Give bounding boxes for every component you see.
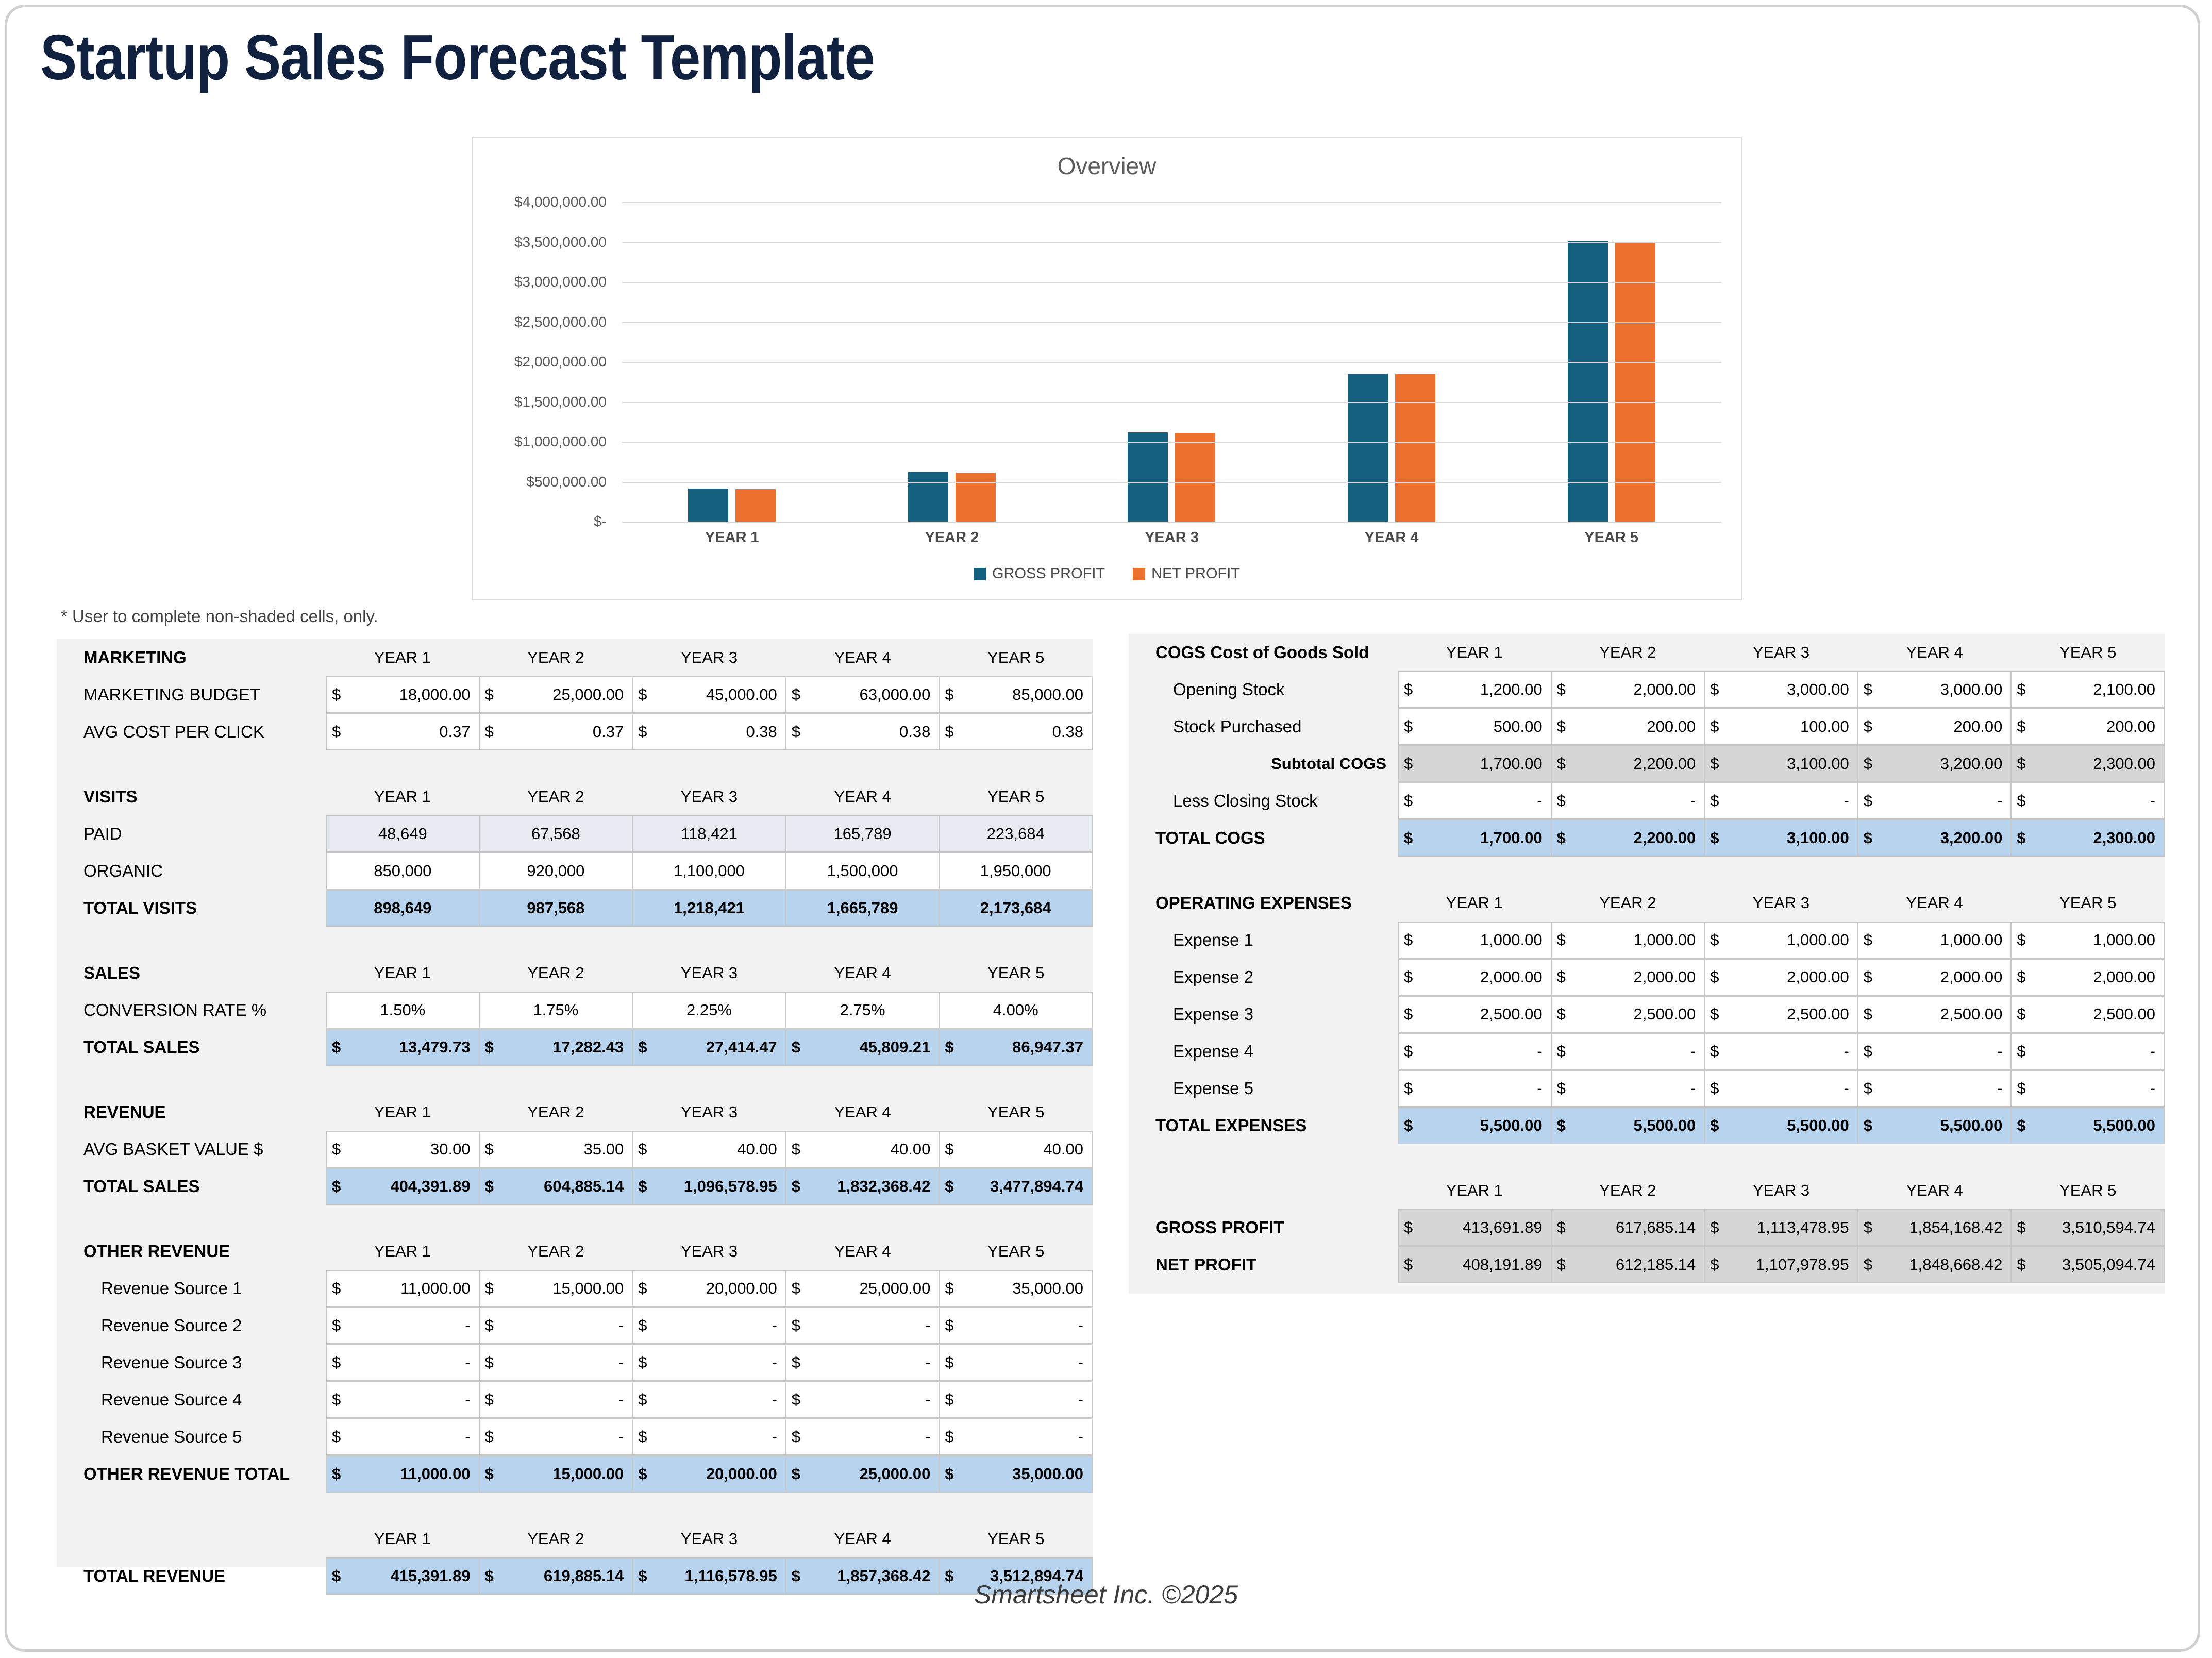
value-cell[interactable]: $- (786, 1344, 940, 1381)
year-column-header: YEAR 1 (326, 954, 479, 992)
table-row: AVG BASKET VALUE $$30.00$35.00$40.00$40.… (57, 1131, 1093, 1168)
value-cell[interactable]: $35,000.00 (939, 1270, 1093, 1307)
value-cell[interactable]: $- (1858, 782, 2012, 819)
value-cell[interactable]: $- (1398, 782, 1551, 819)
currency-symbol: $ (945, 1316, 953, 1335)
value-cell[interactable]: $- (1551, 1033, 1705, 1070)
currency-symbol: $ (332, 685, 341, 704)
value-cell[interactable]: $45,000.00 (632, 676, 786, 713)
value-text: 3,200.00 (1858, 829, 2011, 847)
value-text: 5,500.00 (1858, 1116, 2011, 1135)
value-cell[interactable]: $1,848,668.42 (1858, 1246, 2012, 1283)
value-cell[interactable]: 2.25% (632, 992, 786, 1029)
currency-symbol: $ (1557, 717, 1566, 736)
value-cell[interactable]: 898,649 (326, 890, 479, 927)
value-text: 25,000.00 (480, 685, 632, 704)
year-column-header: YEAR 1 (1398, 884, 1551, 922)
year-column-header: YEAR 5 (939, 1094, 1093, 1131)
value-cell[interactable]: $17,282.43 (479, 1029, 633, 1066)
currency-symbol: $ (1404, 1005, 1413, 1024)
value-cell[interactable]: $5,500.00 (1398, 1107, 1551, 1144)
value-cell[interactable]: 1,100,000 (632, 852, 786, 890)
value-cell[interactable]: $200.00 (1858, 708, 2012, 745)
value-cell[interactable]: $35.00 (479, 1131, 633, 1168)
value-cell[interactable]: $13,479.73 (326, 1029, 479, 1066)
value-cell[interactable]: 1,665,789 (786, 890, 940, 927)
value-cell[interactable]: $40.00 (939, 1131, 1093, 1168)
value-cell[interactable]: $20,000.00 (632, 1270, 786, 1307)
value-cell[interactable]: $- (326, 1418, 479, 1455)
value-cell[interactable]: $408,191.89 (1398, 1246, 1551, 1283)
table-row: Less Closing Stock$-$-$-$-$- (1129, 782, 2165, 819)
value-cell[interactable]: $11,000.00 (326, 1270, 479, 1307)
value-text: - (1552, 1042, 1704, 1061)
currency-symbol: $ (1404, 717, 1413, 736)
currency-symbol: $ (2017, 1005, 2025, 1024)
value-cell[interactable]: $- (1551, 782, 1705, 819)
value-cell[interactable]: $- (479, 1418, 633, 1455)
value-cell[interactable]: $0.37 (326, 713, 479, 750)
currency-symbol: $ (2017, 829, 2025, 847)
value-text: 20,000.00 (633, 1279, 785, 1298)
currency-symbol: $ (945, 1428, 953, 1446)
value-cell[interactable]: 48,649 (326, 815, 479, 852)
currency-symbol: $ (1557, 1255, 1566, 1274)
currency-symbol: $ (332, 1353, 341, 1372)
value-cell[interactable]: 2.75% (786, 992, 940, 1029)
value-cell[interactable]: $35,000.00 (939, 1455, 1093, 1493)
value-cell[interactable]: $- (2011, 1070, 2165, 1107)
chart-x-tick: YEAR 2 (842, 529, 1062, 546)
section-header-row: OPERATING EXPENSESYEAR 1YEAR 2YEAR 3YEAR… (1129, 884, 2165, 922)
value-cell[interactable]: $- (939, 1344, 1093, 1381)
value-cell[interactable]: $25,000.00 (786, 1455, 940, 1493)
value-cell[interactable]: $- (479, 1381, 633, 1418)
value-cell[interactable]: $3,477,894.74 (939, 1168, 1093, 1205)
row-label: Expense 2 (1129, 959, 1398, 996)
value-text: - (327, 1316, 479, 1335)
value-cell[interactable]: $5,500.00 (1858, 1107, 2012, 1144)
value-cell[interactable]: $2,300.00 (2011, 745, 2165, 782)
value-cell[interactable]: $2,000.00 (2011, 959, 2165, 996)
value-cell[interactable]: $1,000.00 (1551, 922, 1705, 959)
value-cell[interactable]: $2,500.00 (1398, 996, 1551, 1033)
value-cell[interactable]: $0.37 (479, 713, 633, 750)
table-row: Stock Purchased$500.00$200.00$100.00$200… (1129, 708, 2165, 745)
row-label: TOTAL VISITS (57, 890, 326, 927)
currency-symbol: $ (1710, 931, 1719, 949)
value-cell[interactable]: $2,200.00 (1551, 819, 1705, 857)
value-text: 1.75% (480, 1001, 632, 1019)
value-text: - (2012, 792, 2164, 810)
value-cell[interactable]: 850,000 (326, 852, 479, 890)
value-text: - (786, 1316, 939, 1335)
value-cell[interactable]: $5,500.00 (1551, 1107, 1705, 1144)
value-cell[interactable]: $0.38 (786, 713, 940, 750)
currency-symbol: $ (485, 723, 494, 741)
value-text: 3,100.00 (1705, 755, 1857, 773)
value-cell[interactable]: $2,000.00 (1398, 959, 1551, 996)
row-label: GROSS PROFIT (1129, 1209, 1398, 1246)
table-row: TOTAL SALES$404,391.89$604,885.14$1,096,… (57, 1168, 1093, 1205)
chart-plot-area (622, 202, 1721, 522)
currency-symbol: $ (332, 1038, 341, 1057)
value-cell[interactable]: $3,505,094.74 (2011, 1246, 2165, 1283)
value-cell[interactable]: $1,113,478.95 (1704, 1209, 1858, 1246)
value-cell[interactable]: $1,000.00 (1398, 922, 1551, 959)
value-cell[interactable]: $5,500.00 (2011, 1107, 2165, 1144)
value-text: 45,000.00 (633, 685, 785, 704)
chart-bar-gross-profit (688, 489, 728, 522)
value-cell[interactable]: $- (1858, 1070, 2012, 1107)
value-cell[interactable]: $604,885.14 (479, 1168, 633, 1205)
value-cell[interactable]: $404,391.89 (326, 1168, 479, 1205)
value-cell[interactable]: $0.38 (939, 713, 1093, 750)
row-spacer (57, 750, 1093, 778)
value-cell[interactable]: 1.50% (326, 992, 479, 1029)
row-spacer (1129, 1144, 2165, 1172)
value-text: 11,000.00 (327, 1465, 479, 1483)
right-panel: COGS Cost of Goods SoldYEAR 1YEAR 2YEAR … (1129, 634, 2165, 1294)
value-text: - (633, 1316, 785, 1335)
value-cell[interactable]: $5,500.00 (1704, 1107, 1858, 1144)
value-cell[interactable]: $- (786, 1307, 940, 1344)
currency-symbol: $ (1710, 680, 1719, 699)
value-cell[interactable]: $86,947.37 (939, 1029, 1093, 1066)
value-cell[interactable]: $- (939, 1418, 1093, 1455)
value-cell[interactable]: 118,421 (632, 815, 786, 852)
currency-symbol: $ (638, 1177, 647, 1196)
value-cell[interactable]: 1,950,000 (939, 852, 1093, 890)
value-cell[interactable]: $2,500.00 (1858, 996, 2012, 1033)
chart-gridline (622, 402, 1721, 403)
value-cell[interactable]: $- (632, 1381, 786, 1418)
value-cell[interactable]: $- (1551, 1070, 1705, 1107)
value-text: 2,000.00 (2012, 968, 2164, 986)
currency-symbol: $ (485, 685, 494, 704)
value-cell[interactable]: $- (1858, 1033, 2012, 1070)
value-cell[interactable]: $40.00 (786, 1131, 940, 1168)
value-cell[interactable]: 223,684 (939, 815, 1093, 852)
value-text: 35,000.00 (940, 1465, 1092, 1483)
section-heading (57, 1520, 326, 1557)
value-cell[interactable]: $617,685.14 (1551, 1209, 1705, 1246)
row-label: Opening Stock (1129, 671, 1398, 708)
value-cell[interactable]: 4.00% (939, 992, 1093, 1029)
year-column-header: YEAR 5 (939, 1233, 1093, 1270)
value-cell[interactable]: $30.00 (326, 1131, 479, 1168)
value-cell[interactable]: $- (1398, 1033, 1551, 1070)
currency-symbol: $ (792, 1353, 800, 1372)
chart-y-axis-labels: $4,000,000.00$3,500,000.00$3,000,000.00$… (473, 202, 612, 522)
row-label: TOTAL SALES (57, 1029, 326, 1066)
value-cell[interactable]: $1,107,978.95 (1704, 1246, 1858, 1283)
year-column-header: YEAR 3 (632, 1520, 786, 1557)
value-cell[interactable]: $413,691.89 (1398, 1209, 1551, 1246)
value-cell[interactable]: $1,832,368.42 (786, 1168, 940, 1205)
value-text: 2,100.00 (2012, 680, 2164, 699)
currency-symbol: $ (1710, 1079, 1719, 1098)
value-cell[interactable]: 920,000 (479, 852, 633, 890)
chart-x-axis-labels: YEAR 1YEAR 2YEAR 3YEAR 4YEAR 5 (622, 529, 1721, 546)
value-text: 413,691.89 (1399, 1218, 1551, 1237)
value-cell[interactable]: $1,096,578.95 (632, 1168, 786, 1205)
value-text: 0.37 (480, 723, 632, 741)
value-cell[interactable]: $18,000.00 (326, 676, 479, 713)
legend-swatch-icon (1133, 568, 1145, 580)
value-cell[interactable]: $1,700.00 (1398, 745, 1551, 782)
year-column-header: YEAR 4 (786, 1094, 940, 1131)
year-column-header: YEAR 2 (1551, 884, 1705, 922)
currency-symbol: $ (638, 1353, 647, 1372)
currency-symbol: $ (1864, 1218, 1872, 1237)
value-cell[interactable]: $- (479, 1307, 633, 1344)
currency-symbol: $ (1710, 717, 1719, 736)
value-cell[interactable]: $3,200.00 (1858, 819, 2012, 857)
value-cell[interactable]: 987,568 (479, 890, 633, 927)
value-text: 1,200.00 (1399, 680, 1551, 699)
legend-item: NET PROFIT (1133, 565, 1240, 582)
currency-symbol: $ (1557, 968, 1566, 986)
value-cell[interactable]: $25,000.00 (479, 676, 633, 713)
currency-symbol: $ (485, 1353, 494, 1372)
currency-symbol: $ (1864, 680, 1872, 699)
currency-symbol: $ (2017, 1042, 2025, 1061)
value-cell[interactable]: $- (326, 1307, 479, 1344)
year-column-header: YEAR 5 (939, 1520, 1093, 1557)
currency-symbol: $ (1557, 792, 1566, 810)
value-cell[interactable]: $- (939, 1307, 1093, 1344)
value-cell[interactable]: $15,000.00 (479, 1455, 633, 1493)
chart-gridline (622, 442, 1721, 443)
value-cell[interactable]: $2,000.00 (1551, 671, 1705, 708)
value-cell[interactable]: $- (2011, 1033, 2165, 1070)
value-cell[interactable]: $2,500.00 (2011, 996, 2165, 1033)
value-cell[interactable]: $15,000.00 (479, 1270, 633, 1307)
value-cell[interactable]: $2,300.00 (2011, 819, 2165, 857)
section-header-row: SALESYEAR 1YEAR 2YEAR 3YEAR 4YEAR 5 (57, 954, 1093, 992)
value-cell[interactable]: $500.00 (1398, 708, 1551, 745)
value-cell[interactable]: 1.75% (479, 992, 633, 1029)
value-cell[interactable]: $1,200.00 (1398, 671, 1551, 708)
currency-symbol: $ (638, 1279, 647, 1298)
year-column-header: YEAR 5 (2011, 884, 2165, 922)
value-cell[interactable]: $1,700.00 (1398, 819, 1551, 857)
value-cell[interactable]: $- (1398, 1070, 1551, 1107)
value-cell[interactable]: $100.00 (1704, 708, 1858, 745)
value-cell[interactable]: $2,500.00 (1704, 996, 1858, 1033)
value-text: 4.00% (940, 1001, 1092, 1019)
value-text: - (480, 1353, 632, 1372)
section-heading: VISITS (57, 778, 326, 815)
chart-y-tick: $4,000,000.00 (514, 194, 607, 210)
value-cell[interactable]: 1,500,000 (786, 852, 940, 890)
year-column-header: YEAR 2 (479, 1094, 633, 1131)
currency-symbol: $ (792, 1316, 800, 1335)
currency-symbol: $ (638, 1428, 647, 1446)
value-cell[interactable]: $0.38 (632, 713, 786, 750)
value-cell[interactable]: $- (1704, 1033, 1858, 1070)
currency-symbol: $ (1404, 755, 1413, 773)
value-text: 898,649 (327, 899, 479, 917)
currency-symbol: $ (1864, 1042, 1872, 1061)
year-column-header: YEAR 5 (2011, 1172, 2165, 1209)
row-label: Expense 1 (1129, 922, 1398, 959)
chart-y-tick: $3,500,000.00 (514, 234, 607, 250)
value-cell[interactable]: $3,000.00 (1704, 671, 1858, 708)
currency-symbol: $ (1864, 1079, 1872, 1098)
value-cell[interactable]: $85,000.00 (939, 676, 1093, 713)
value-cell[interactable]: $1,854,168.42 (1858, 1209, 2012, 1246)
value-cell[interactable]: $- (2011, 782, 2165, 819)
value-text: 2,200.00 (1552, 829, 1704, 847)
value-text: 0.38 (786, 723, 939, 741)
currency-symbol: $ (1404, 792, 1413, 810)
value-cell[interactable]: $- (479, 1344, 633, 1381)
value-cell[interactable]: $- (326, 1381, 479, 1418)
shaded-cells-note: * User to complete non-shaded cells, onl… (61, 607, 378, 626)
value-text: - (633, 1391, 785, 1409)
year-column-header: YEAR 2 (1551, 1172, 1705, 1209)
value-cell[interactable]: $- (326, 1344, 479, 1381)
value-text: 5,500.00 (1399, 1116, 1551, 1135)
value-cell[interactable]: $- (786, 1418, 940, 1455)
chart-y-tick: $3,000,000.00 (514, 274, 607, 290)
value-text: - (327, 1391, 479, 1409)
currency-symbol: $ (1404, 931, 1413, 949)
value-cell[interactable]: 165,789 (786, 815, 940, 852)
table-row: NET PROFIT$408,191.89$612,185.14$1,107,9… (1129, 1246, 2165, 1283)
value-cell[interactable]: 1,218,421 (632, 890, 786, 927)
currency-symbol: $ (332, 1465, 341, 1483)
value-text: 2,500.00 (1552, 1005, 1704, 1024)
value-cell[interactable]: $- (632, 1307, 786, 1344)
value-cell[interactable]: $3,100.00 (1704, 745, 1858, 782)
currency-symbol: $ (1864, 968, 1872, 986)
currency-symbol: $ (638, 723, 647, 741)
value-cell[interactable]: $- (786, 1381, 940, 1418)
value-text: - (1552, 792, 1704, 810)
value-cell[interactable]: $- (939, 1381, 1093, 1418)
value-text: - (786, 1391, 939, 1409)
value-cell[interactable]: $1,000.00 (2011, 922, 2165, 959)
year-column-header: YEAR 1 (326, 1233, 479, 1270)
currency-symbol: $ (1404, 1116, 1413, 1135)
value-text: 1,000.00 (1858, 931, 2011, 949)
row-label: TOTAL EXPENSES (1129, 1107, 1398, 1144)
row-label: Expense 4 (1129, 1033, 1398, 1070)
value-cell[interactable]: $63,000.00 (786, 676, 940, 713)
row-label: MARKETING BUDGET (57, 676, 326, 713)
value-text: - (2012, 1079, 2164, 1098)
value-cell[interactable]: $2,500.00 (1551, 996, 1705, 1033)
value-text: 2,000.00 (1705, 968, 1857, 986)
value-text: 40.00 (940, 1140, 1092, 1159)
currency-symbol: $ (1864, 1005, 1872, 1024)
value-cell[interactable]: $612,185.14 (1551, 1246, 1705, 1283)
value-cell[interactable]: $2,100.00 (2011, 671, 2165, 708)
value-cell[interactable]: $2,000.00 (1858, 959, 2012, 996)
table-row: Expense 1$1,000.00$1,000.00$1,000.00$1,0… (1129, 922, 2165, 959)
table-row: TOTAL SALES$13,479.73$17,282.43$27,414.4… (57, 1029, 1093, 1066)
section-heading: SALES (57, 954, 326, 992)
chart-bar-gross-profit (908, 472, 948, 522)
chart-gridline (622, 522, 1721, 523)
chart-gridline (622, 282, 1721, 283)
value-cell[interactable]: $3,200.00 (1858, 745, 2012, 782)
value-cell[interactable]: $3,510,594.74 (2011, 1209, 2165, 1246)
value-cell[interactable]: $- (632, 1344, 786, 1381)
value-text: 2.75% (786, 1001, 939, 1019)
currency-symbol: $ (1404, 1218, 1413, 1237)
value-text: 1,000.00 (1399, 931, 1551, 949)
currency-symbol: $ (1710, 829, 1719, 847)
value-cell[interactable]: $40.00 (632, 1131, 786, 1168)
row-label: Revenue Source 3 (57, 1344, 326, 1381)
value-cell[interactable]: $2,200.00 (1551, 745, 1705, 782)
value-cell[interactable]: $- (1704, 1070, 1858, 1107)
value-cell[interactable]: $- (1704, 782, 1858, 819)
value-cell[interactable]: $- (632, 1418, 786, 1455)
year-column-header: YEAR 4 (1858, 1172, 2012, 1209)
value-text: - (327, 1353, 479, 1372)
value-text: 1,218,421 (633, 899, 785, 917)
value-cell[interactable]: $11,000.00 (326, 1455, 479, 1493)
currency-symbol: $ (792, 1140, 800, 1159)
value-cell[interactable]: $27,414.47 (632, 1029, 786, 1066)
section-heading: COGS Cost of Goods Sold (1129, 634, 1398, 671)
chart-bar-net-profit (735, 489, 776, 522)
currency-symbol: $ (945, 685, 953, 704)
value-cell[interactable]: $1,000.00 (1858, 922, 2012, 959)
value-text: - (786, 1428, 939, 1446)
value-text: 1,100,000 (633, 862, 785, 880)
value-text: 1,096,578.95 (633, 1177, 785, 1196)
value-cell[interactable]: $1,000.00 (1704, 922, 1858, 959)
value-text: 0.37 (327, 723, 479, 741)
value-cell[interactable]: $2,000.00 (1704, 959, 1858, 996)
table-row: Expense 4$-$-$-$-$- (1129, 1033, 2165, 1070)
value-text: 500.00 (1399, 717, 1551, 736)
value-text: 45,809.21 (786, 1038, 939, 1057)
currency-symbol: $ (485, 1391, 494, 1409)
row-label: Less Closing Stock (1129, 782, 1398, 819)
currency-symbol: $ (485, 1279, 494, 1298)
currency-symbol: $ (1557, 1005, 1566, 1024)
row-spacer (57, 1066, 1093, 1094)
year-column-header: YEAR 5 (939, 778, 1093, 815)
value-cell[interactable]: $20,000.00 (632, 1455, 786, 1493)
value-cell[interactable]: $2,000.00 (1551, 959, 1705, 996)
value-text: 5,500.00 (2012, 1116, 2164, 1135)
value-cell[interactable]: $200.00 (1551, 708, 1705, 745)
value-cell[interactable]: 2,173,684 (939, 890, 1093, 927)
legend-swatch-icon (974, 568, 986, 580)
value-text: 35,000.00 (940, 1279, 1092, 1298)
value-cell[interactable]: 67,568 (479, 815, 633, 852)
value-cell[interactable]: $200.00 (2011, 708, 2165, 745)
value-cell[interactable]: $3,100.00 (1704, 819, 1858, 857)
value-cell[interactable]: $45,809.21 (786, 1029, 940, 1066)
row-label: Revenue Source 2 (57, 1307, 326, 1344)
value-cell[interactable]: $25,000.00 (786, 1270, 940, 1307)
value-text: - (940, 1316, 1092, 1335)
currency-symbol: $ (792, 1038, 800, 1057)
value-text: - (633, 1353, 785, 1372)
value-cell[interactable]: $3,000.00 (1858, 671, 2012, 708)
chart-bar-gross-profit (1568, 241, 1608, 522)
table-row: Expense 5$-$-$-$-$- (1129, 1070, 2165, 1107)
